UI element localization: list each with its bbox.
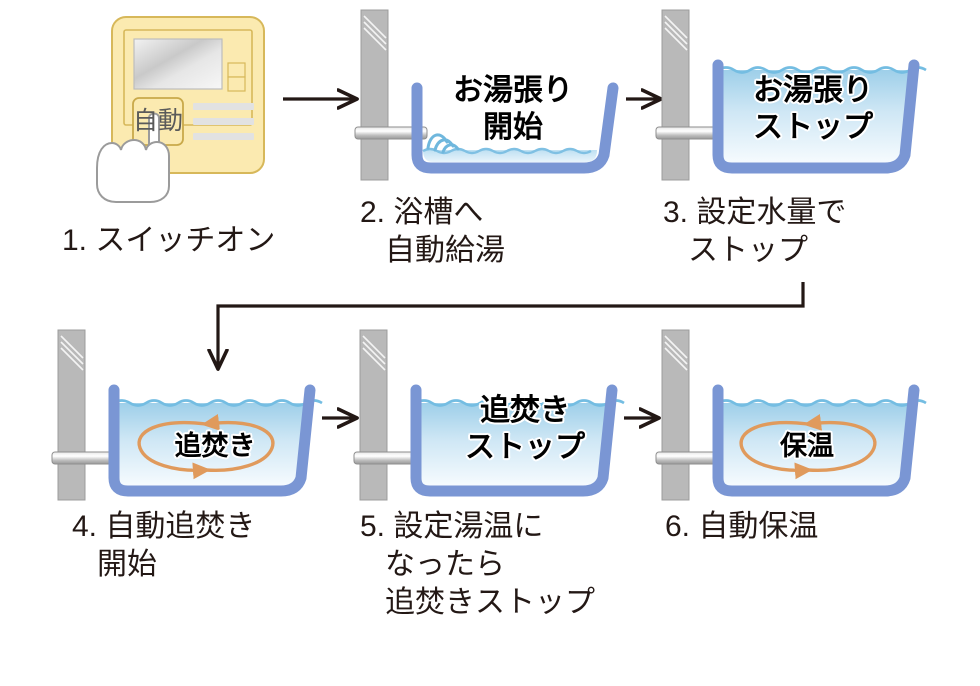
remote-side-button-top[interactable] (228, 63, 245, 77)
step-6-illustration (656, 330, 926, 500)
step-3-caption: 3. 設定水量で ストップ (663, 194, 846, 270)
step-1-caption: 1. スイッチオン (62, 222, 275, 260)
step-5-caption: 5. 設定湯温に なったら 追焚きストップ (360, 508, 595, 622)
arrow-step3-to-step4 (218, 282, 803, 368)
remote-panel-line-1 (193, 103, 254, 110)
step-2-caption: 2. 浴槽へ 自動給湯 (360, 194, 505, 270)
step-4-caption: 4. 自動追焚き 開始 (72, 508, 255, 584)
step-2-tub-label: お湯張り開始 (418, 72, 608, 146)
auto-button-label[interactable]: 自動 (133, 104, 183, 138)
remote-panel-line-2 (193, 118, 254, 125)
bath-process-diagram: 自動おふろかんの動作手順 (0, 0, 980, 686)
remote-side-button-bottom[interactable] (228, 77, 245, 91)
step-6-caption: 6. 自動保温 (665, 508, 818, 546)
remote-panel-line-3 (193, 133, 254, 140)
remote-panel-display (134, 39, 222, 89)
step-3-tub-label: お湯張りストップ (718, 72, 908, 146)
step-4-illustration (52, 330, 322, 500)
step-6-tub-label: 保温 (752, 428, 862, 465)
step-5-tub-label: 追焚きストップ (440, 392, 610, 466)
step-4-tub-label: 追焚き (140, 428, 290, 465)
